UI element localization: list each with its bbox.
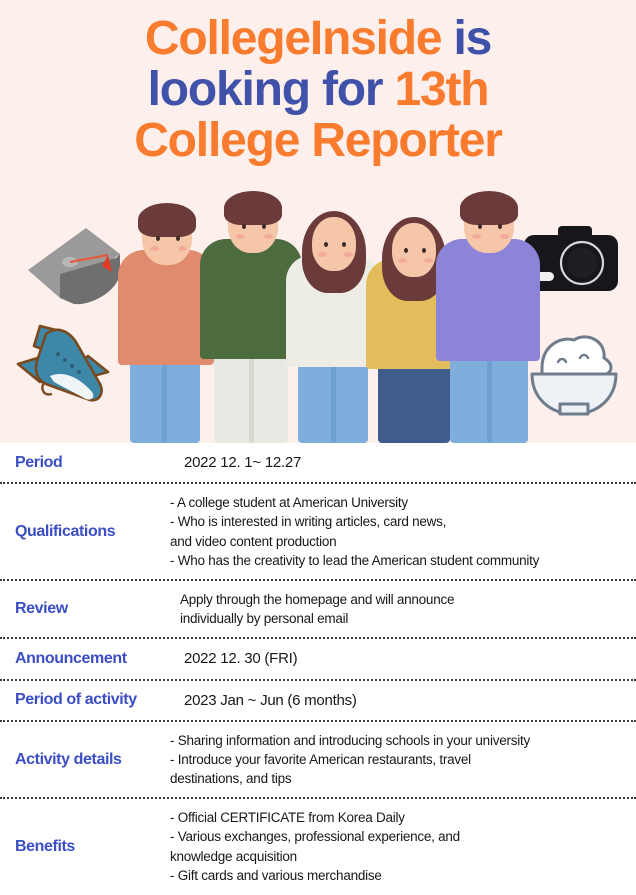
headline-segment: College Reporter [134, 114, 502, 167]
row-label-review: Review [0, 600, 170, 618]
table-row: Benefits- Official CERTIFICATE from Kore… [0, 799, 636, 894]
student-5 [430, 187, 546, 443]
row-value-benefits: - Official CERTIFICATE from Korea Daily-… [170, 808, 636, 885]
value-line: Apply through the homepage and will anno… [180, 590, 630, 609]
row-value-announcement: 2022 12. 30 (FRI) [170, 648, 636, 669]
value-line: - A college student at American Universi… [170, 493, 630, 512]
headline-segment: looking for [148, 63, 395, 116]
row-label-period: Period [0, 454, 170, 472]
illustration [0, 180, 636, 443]
row-label-qualifications: Qualifications [0, 523, 170, 541]
value-line: - Who has the creativity to lead the Ame… [170, 551, 630, 570]
row-value-qualifications: - A college student at American Universi… [170, 493, 636, 570]
value-line: - Official CERTIFICATE from Korea Daily [170, 808, 630, 827]
value-line: - Gift cards and various merchandise [170, 866, 630, 885]
headline-segment: is [441, 12, 491, 65]
table-row: Announcement2022 12. 30 (FRI) [0, 639, 636, 680]
poster: CollegeInside islooking for 13thCollege … [0, 0, 636, 895]
table-row: Qualifications- A college student at Ame… [0, 484, 636, 581]
headline-line: looking for 13th [0, 65, 636, 116]
row-value-period: 2022 12. 1~ 12.27 [170, 452, 636, 473]
row-label-activitydetails: Activity details [0, 751, 170, 769]
table-row: Activity details- Sharing information an… [0, 722, 636, 799]
row-label-benefits: Benefits [0, 838, 170, 856]
headline-segment: 13th [395, 63, 489, 116]
value-line: individually by personal email [180, 609, 630, 628]
row-value-review: Apply through the homepage and will anno… [170, 590, 636, 628]
value-line: - Sharing information and introducing sc… [170, 731, 630, 750]
value-line: - Introduce your favorite American resta… [170, 750, 630, 769]
value-line: 2023 Jan ~ Jun (6 months) [184, 690, 630, 711]
row-value-activitydetails: - Sharing information and introducing sc… [170, 731, 636, 788]
page-title: CollegeInside islooking for 13thCollege … [0, 14, 636, 167]
row-label-announcement: Announcement [0, 650, 170, 668]
details-table: Period2022 12. 1~ 12.27Qualifications- A… [0, 443, 636, 894]
value-line: 2022 12. 1~ 12.27 [184, 452, 630, 473]
headline-segment: CollegeInside [145, 12, 441, 65]
table-row: Period of activity2023 Jan ~ Jun (6 mont… [0, 681, 636, 722]
row-label-activityperiod: Period of activity [0, 691, 170, 709]
headline-line: CollegeInside is [0, 14, 636, 65]
airplane-icon [10, 320, 118, 416]
hero-section: CollegeInside islooking for 13thCollege … [0, 0, 636, 443]
value-line: - Who is interested in writing articles,… [170, 512, 630, 531]
headline-line: College Reporter [0, 116, 636, 167]
value-line: 2022 12. 30 (FRI) [184, 648, 630, 669]
graduation-cap-icon [8, 210, 126, 315]
table-row: Period2022 12. 1~ 12.27 [0, 443, 636, 484]
table-row: ReviewApply through the homepage and wil… [0, 581, 636, 639]
row-value-activityperiod: 2023 Jan ~ Jun (6 months) [170, 690, 636, 711]
value-line: knowledge acquisition [170, 847, 630, 866]
value-line: destinations, and tips [170, 769, 630, 788]
value-line: - Various exchanges, professional experi… [170, 827, 630, 846]
value-line: and video content production [170, 532, 630, 551]
